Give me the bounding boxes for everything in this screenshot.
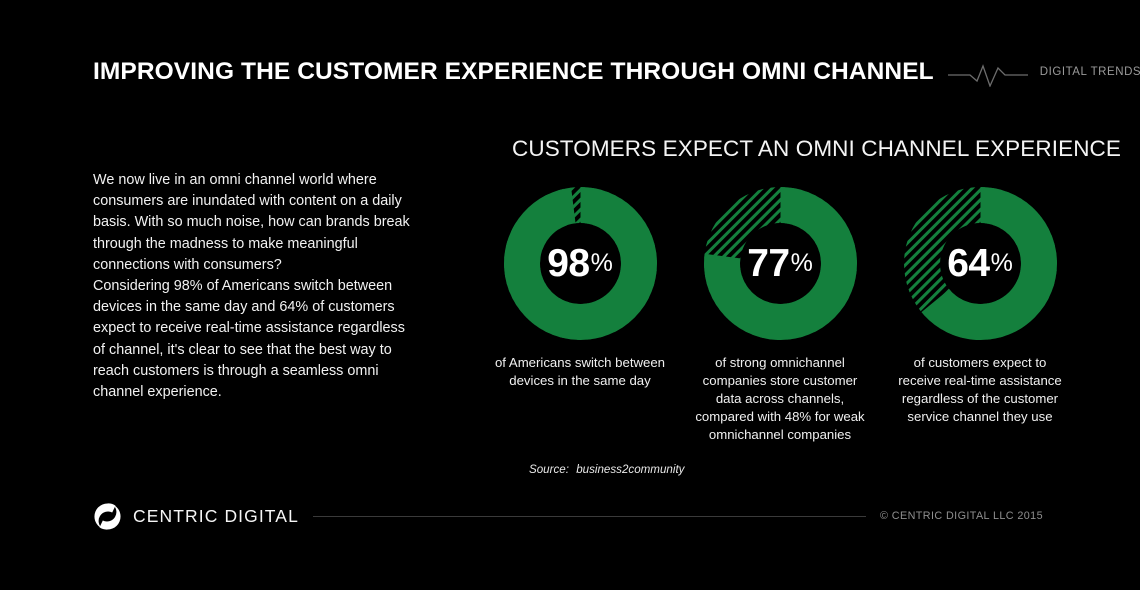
donut-chart: 64 % bbox=[903, 186, 1058, 341]
donut-caption: of customers expect to receive real-time… bbox=[894, 354, 1066, 426]
donut-caption: of Americans switch between devices in t… bbox=[494, 354, 666, 390]
footer-divider bbox=[313, 516, 866, 517]
heartbeat-pulse-icon bbox=[948, 57, 1028, 87]
section-title: CUSTOMERS EXPECT AN OMNI CHANNEL EXPERIE… bbox=[512, 136, 1121, 162]
source-line: Source: business2community bbox=[529, 463, 684, 476]
infographic-canvas: IMPROVING THE CUSTOMER EXPERIENCE THROUG… bbox=[0, 0, 1140, 590]
donut-value-arc bbox=[522, 205, 639, 322]
copyright-notice: © CENTRIC DIGITAL LLC 2015 bbox=[880, 510, 1043, 522]
pulse-divider bbox=[948, 57, 1028, 87]
header: IMPROVING THE CUSTOMER EXPERIENCE THROUG… bbox=[93, 52, 1053, 92]
donut-stat-64: 64 % of customers expect to receive real… bbox=[890, 186, 1070, 444]
donut-chart-svg bbox=[503, 186, 658, 341]
source-value: business2community bbox=[576, 463, 684, 476]
source-label: Source: bbox=[529, 463, 569, 476]
donut-chart-svg bbox=[903, 186, 1058, 341]
logo-wordmark: CENTRIC DIGITAL bbox=[133, 506, 299, 527]
footer: CENTRIC DIGITAL © CENTRIC DIGITAL LLC 20… bbox=[93, 500, 1043, 532]
page-title: IMPROVING THE CUSTOMER EXPERIENCE THROUG… bbox=[93, 60, 934, 85]
donut-chart: 98 % bbox=[503, 186, 658, 341]
donut-caption: of strong omnichannel companies store cu… bbox=[694, 354, 866, 444]
brand-tagline: DIGITAL TRENDS bbox=[1040, 66, 1140, 78]
intro-text-block: We now live in an omni channel world whe… bbox=[93, 170, 418, 403]
intro-paragraph-1: We now live in an omni channel world whe… bbox=[93, 170, 418, 276]
donut-stat-98: 98 % of Americans switch between devices… bbox=[490, 186, 670, 444]
centric-digital-circle-logo-icon bbox=[93, 502, 122, 531]
intro-paragraph-2: Considering 98% of Americans switch betw… bbox=[93, 276, 418, 403]
donut-stat-77: 77 % of strong omnichannel companies sto… bbox=[690, 186, 870, 444]
donut-chart-row: 98 % of Americans switch between devices… bbox=[490, 186, 1070, 444]
donut-chart: 77 % bbox=[703, 186, 858, 341]
donut-chart-svg bbox=[703, 186, 858, 341]
